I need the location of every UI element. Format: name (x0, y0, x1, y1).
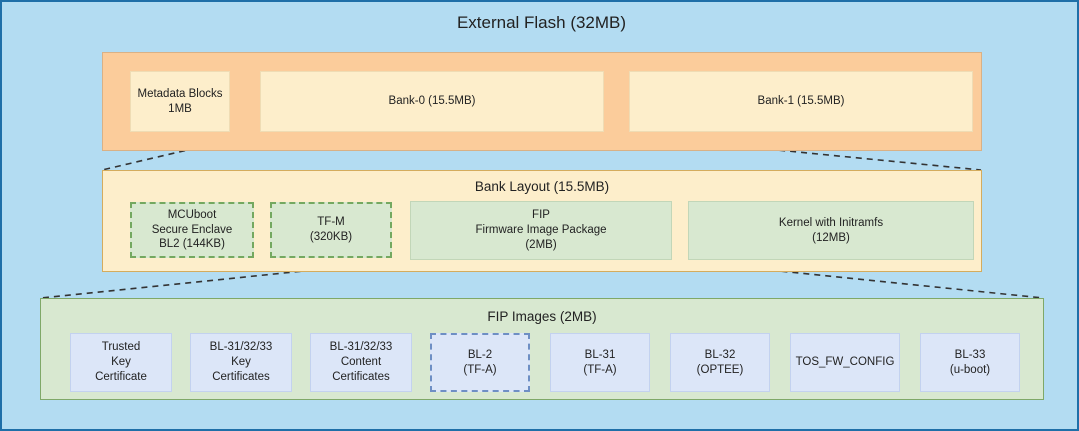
fip-kc-line3: Certificates (212, 370, 270, 385)
fip-bl31-line1: BL-31 (585, 348, 616, 363)
fip-box[interactable]: FIP Firmware Image Package (2MB) (410, 201, 672, 260)
bank-1-box[interactable]: Bank-1 (15.5MB) (629, 71, 973, 132)
fip-line3: (2MB) (525, 238, 556, 253)
fip-bl2-line2: (TF-A) (463, 363, 496, 378)
fip-cc-line3: Certificates (332, 370, 390, 385)
bank-0-label: Bank-0 (15.5MB) (389, 94, 476, 109)
bank-1-label: Bank-1 (15.5MB) (758, 94, 845, 109)
fip-line2: Firmware Image Package (475, 223, 606, 238)
fip-tkc-line1: Trusted (102, 340, 141, 355)
fip-images-title: FIP Images (2MB) (40, 309, 1044, 324)
mcuboot-line1: MCUboot (168, 208, 217, 223)
fip-kc-line2: Key (231, 355, 251, 370)
tfm-line2: (320KB) (310, 230, 352, 245)
fip-item-bl33[interactable]: BL-33 (u-boot) (920, 333, 1020, 392)
kernel-line1: Kernel with Initramfs (779, 216, 883, 231)
bank-layout-title: Bank Layout (15.5MB) (102, 179, 982, 194)
bank-0-box[interactable]: Bank-0 (15.5MB) (260, 71, 604, 132)
external-flash-title: External Flash (32MB) (2, 13, 1079, 33)
kernel-initramfs-box[interactable]: Kernel with Initramfs (12MB) (688, 201, 974, 260)
fip-tkc-line3: Certificate (95, 370, 147, 385)
fip-tos-line1: TOS_FW_CONFIG (796, 355, 895, 370)
fip-bl31-line2: (TF-A) (583, 363, 616, 378)
fip-bl33-line2: (u-boot) (950, 363, 990, 378)
fip-item-bl31[interactable]: BL-31 (TF-A) (550, 333, 650, 392)
fip-bl33-line1: BL-33 (955, 348, 986, 363)
tfm-box[interactable]: TF-M (320KB) (270, 202, 392, 258)
metadata-blocks-line1: Metadata Blocks (137, 87, 222, 102)
fip-kc-line1: BL-31/32/33 (210, 340, 273, 355)
fip-cc-line2: Content (341, 355, 381, 370)
fip-item-trusted-key-certificate[interactable]: Trusted Key Certificate (70, 333, 172, 392)
fip-line1: FIP (532, 208, 550, 223)
flash-layout-diagram: External Flash (32MB) Metadata Blocks 1M… (0, 0, 1079, 431)
fip-item-content-certificates[interactable]: BL-31/32/33 Content Certificates (310, 333, 412, 392)
metadata-blocks-line2: 1MB (168, 102, 192, 117)
mcuboot-line2: Secure Enclave (152, 223, 233, 238)
mcuboot-box[interactable]: MCUboot Secure Enclave BL2 (144KB) (130, 202, 254, 258)
metadata-blocks-box[interactable]: Metadata Blocks 1MB (130, 71, 230, 132)
fip-bl32-line1: BL-32 (705, 348, 736, 363)
kernel-line2: (12MB) (812, 231, 850, 246)
mcuboot-line3: BL2 (144KB) (159, 237, 225, 252)
fip-bl32-line2: (OPTEE) (697, 363, 744, 378)
fip-cc-line1: BL-31/32/33 (330, 340, 393, 355)
fip-tkc-line2: Key (111, 355, 131, 370)
tfm-line1: TF-M (317, 215, 344, 230)
fip-bl2-line1: BL-2 (468, 348, 492, 363)
fip-item-tos-fw-config[interactable]: TOS_FW_CONFIG (790, 333, 900, 392)
fip-item-bl2[interactable]: BL-2 (TF-A) (430, 333, 530, 392)
fip-item-key-certificates[interactable]: BL-31/32/33 Key Certificates (190, 333, 292, 392)
fip-item-bl32[interactable]: BL-32 (OPTEE) (670, 333, 770, 392)
